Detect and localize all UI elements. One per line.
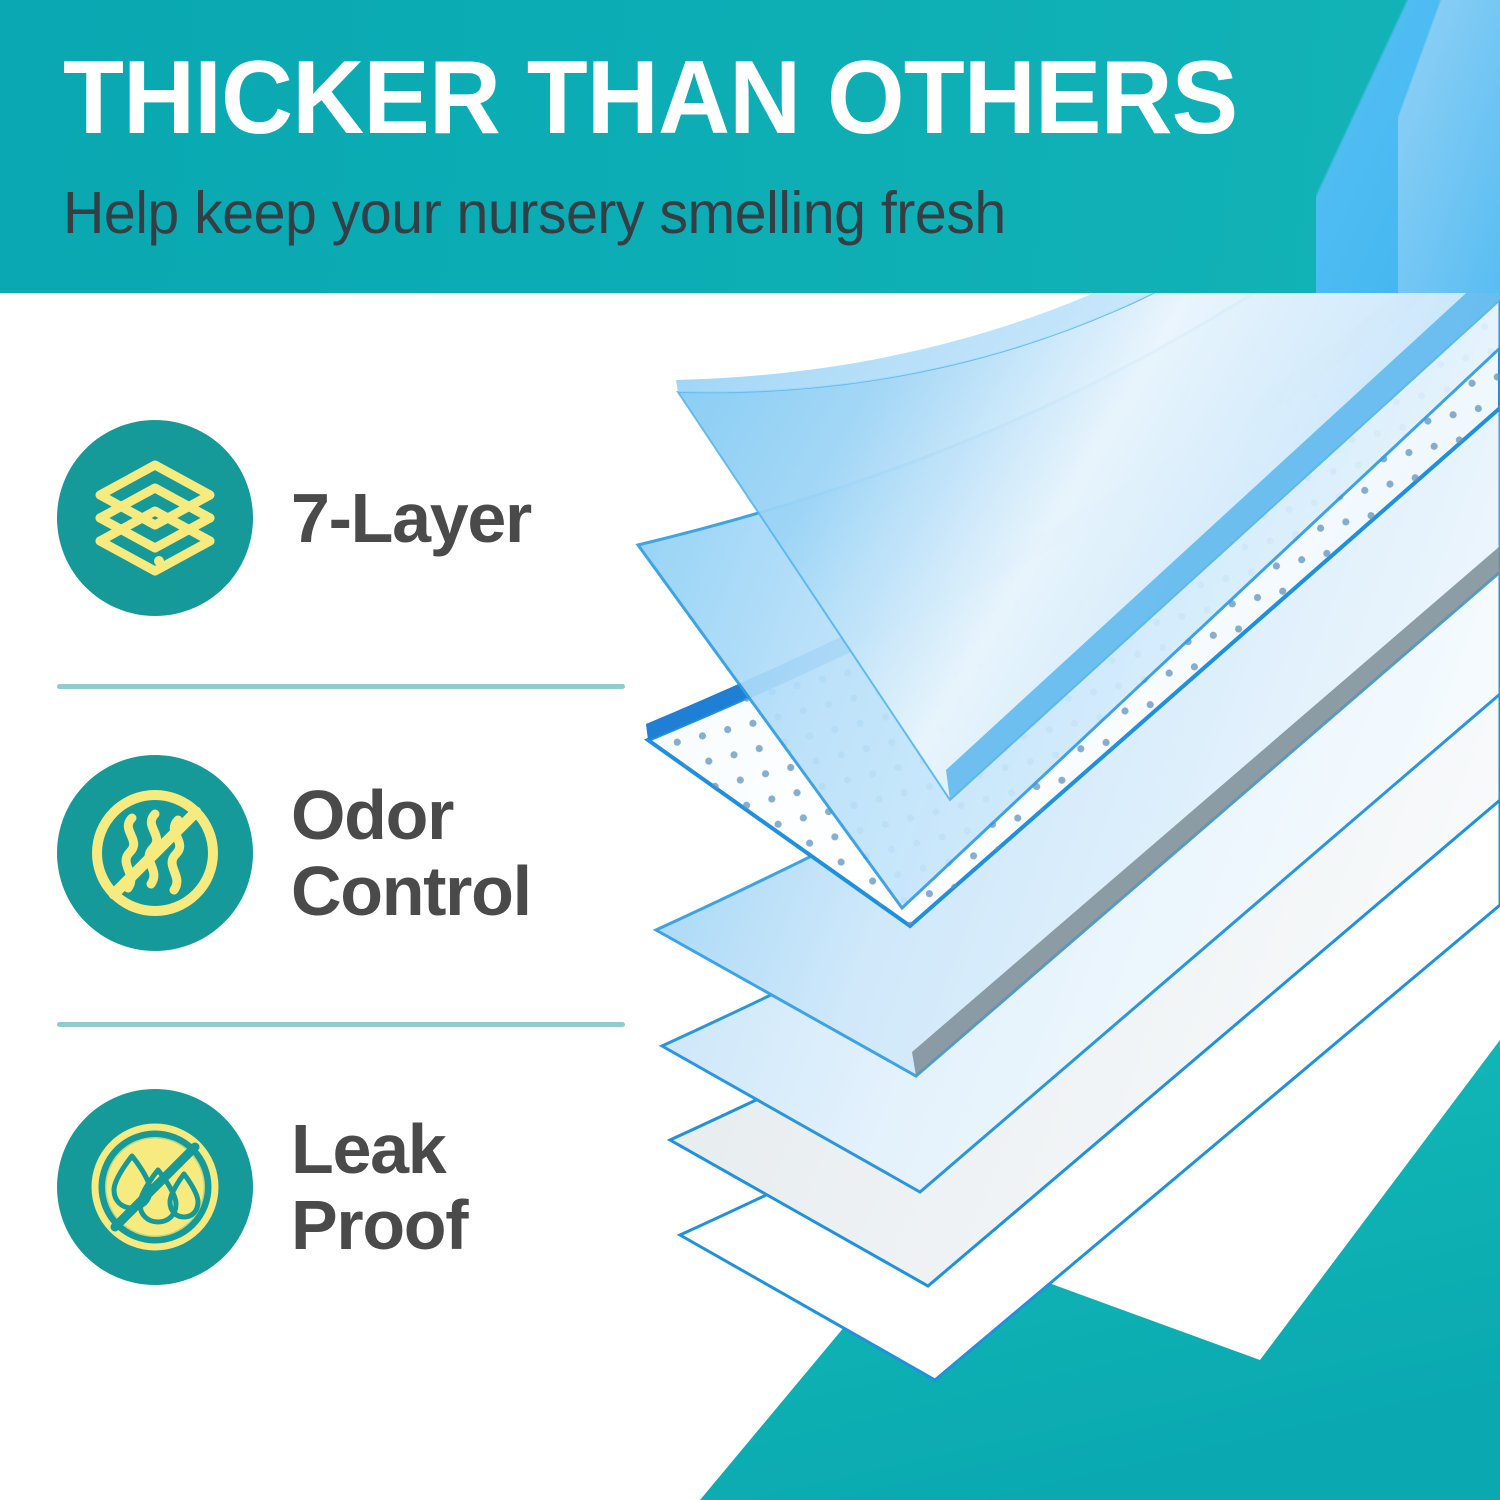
layers-stack-icon xyxy=(80,443,230,593)
feature-label: 7-Layer xyxy=(291,480,531,556)
page-title: THICKER THAN OTHERS xyxy=(63,46,1237,150)
feature-item-7-layer[interactable]: 7-Layer xyxy=(57,420,657,616)
infographic-page: THICKER THAN OTHERS Help keep your nurse… xyxy=(0,0,1500,1500)
feature-icon-circle xyxy=(57,420,253,616)
no-odor-icon xyxy=(80,778,230,928)
feature-label: Odor Control xyxy=(291,777,531,929)
layers-stack-icon-dot xyxy=(154,556,164,566)
page-subtitle: Help keep your nursery smelling fresh xyxy=(63,182,1006,244)
feature-label: Leak Proof xyxy=(291,1111,467,1263)
feature-divider xyxy=(57,1022,625,1027)
feature-divider xyxy=(57,684,625,689)
header-banner: THICKER THAN OTHERS Help keep your nurse… xyxy=(0,0,1500,293)
feature-list: 7-Layer Odor Control xyxy=(0,293,660,1500)
no-leak-droplets-icon xyxy=(80,1112,230,1262)
feature-item-odor-control[interactable]: Odor Control xyxy=(57,755,657,951)
feature-icon-circle xyxy=(57,1089,253,1285)
feature-item-leak-proof[interactable]: Leak Proof xyxy=(57,1089,657,1285)
feature-icon-circle xyxy=(57,755,253,951)
